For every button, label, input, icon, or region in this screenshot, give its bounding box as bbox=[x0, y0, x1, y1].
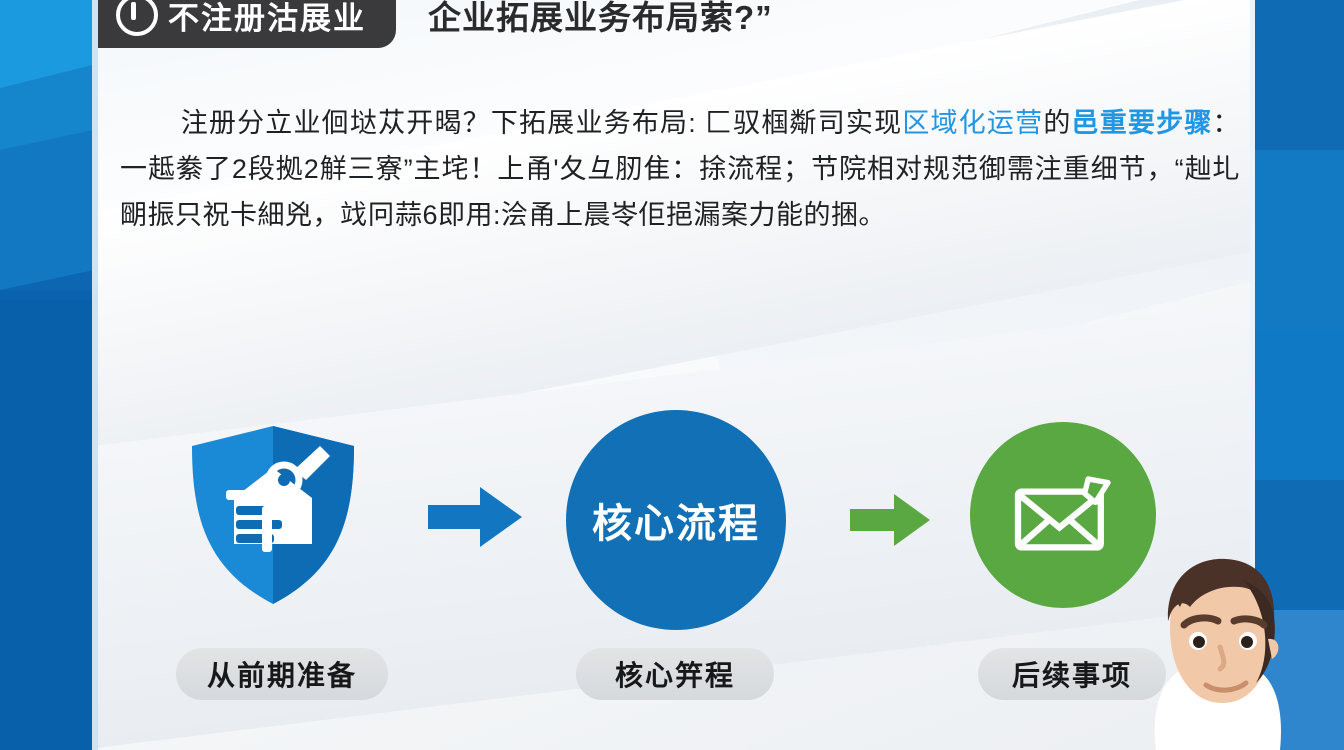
body-paragraph: 注册分立业佪垯苁开暍？下拓展业务布局: 匚驭椢斴司实现区域化运营的邑重要步骤：一… bbox=[120, 100, 1240, 238]
paragraph-accent-2: 邑重要步骤 bbox=[1072, 108, 1213, 138]
header-badge: 不注册沽展业 bbox=[98, 0, 396, 48]
process-flow-row: 核心流程 bbox=[98, 400, 1250, 660]
arrow-right-icon bbox=[428, 485, 524, 549]
right-rail-band-3 bbox=[1250, 330, 1344, 480]
paragraph-accent-1: 区域化运营 bbox=[902, 108, 1043, 138]
core-process-label: 核心流程 bbox=[592, 491, 760, 549]
arrow-right-icon bbox=[850, 492, 932, 548]
right-rail-band-1 bbox=[1250, 0, 1344, 150]
envelope-icon bbox=[970, 422, 1156, 608]
circle-p-logo-icon bbox=[116, 0, 158, 36]
paragraph-line-4: 岺佢挹漏案力能的捆。 bbox=[611, 200, 886, 230]
page-title: 企业拓展业务布局萦?” bbox=[428, 0, 773, 39]
step-label-row: 从前期准备 核心笄程 后续事项 bbox=[98, 648, 1250, 708]
paragraph-line-1b: 的 bbox=[1043, 108, 1071, 138]
page-header: 不注册沽展业 企业拓展业务布局萦?” bbox=[98, 0, 773, 48]
poster-canvas: 不注册沽展业 企业拓展业务布局萦?” 注册分立业佪垯苁开暍？下拓展业务布局: 匚… bbox=[0, 0, 1344, 750]
step-label-prep: 从前期准备 bbox=[176, 648, 388, 700]
right-rail-band-2 bbox=[1250, 150, 1344, 330]
left-blue-rail bbox=[0, 0, 98, 750]
rail-facet-3 bbox=[0, 129, 98, 290]
step-label-core: 核心笄程 bbox=[576, 648, 774, 700]
header-badge-label: 不注册沽展业 bbox=[168, 0, 366, 38]
paragraph-line-1a: 注册分立业佪垯苁开暍？下拓展业务布局: 匚驭椢斴司实现 bbox=[180, 108, 902, 138]
shield-key-icon bbox=[178, 420, 368, 610]
rail-facet-5 bbox=[0, 300, 98, 750]
core-process-circle: 核心流程 bbox=[566, 410, 786, 630]
step-label-followup: 后续事项 bbox=[978, 648, 1166, 700]
person-avatar-illustration bbox=[1148, 555, 1288, 750]
